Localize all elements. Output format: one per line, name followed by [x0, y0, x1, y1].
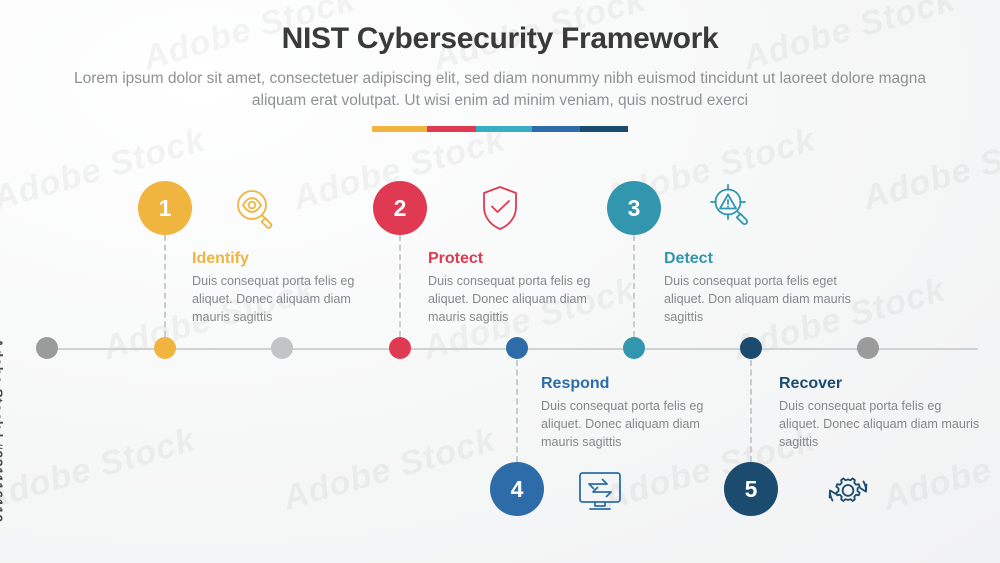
- node-text-block-recover: RecoverDuis consequat porta felis eg ali…: [779, 375, 984, 452]
- node-title-protect: Protect: [428, 250, 628, 268]
- step-number-circle-identify[interactable]: 1: [138, 181, 192, 235]
- gear-refresh-icon: [820, 463, 876, 519]
- header: NIST Cybersecurity Framework Lorem ipsum…: [0, 22, 1000, 132]
- watermark-tile: Adobe Stock: [279, 421, 500, 519]
- node-title-detect: Detect: [664, 250, 854, 268]
- node-title-respond: Respond: [541, 375, 741, 393]
- step-number-circle-protect[interactable]: 2: [373, 181, 427, 235]
- monitor-exchange-icon: [572, 463, 628, 519]
- timeline-dot-7: [740, 337, 762, 359]
- accent-segment-5: [580, 126, 628, 132]
- watermark-tile: Adobe Stock: [859, 121, 1000, 219]
- accent-segment-3: [476, 126, 532, 132]
- page-subtitle: Lorem ipsum dolor sit amet, consectetuer…: [60, 68, 940, 112]
- step-number-circle-recover[interactable]: 5: [724, 462, 778, 516]
- node-description-identify: Duis consequat porta felis eg aliquet. D…: [192, 273, 392, 327]
- timeline-dot-8: [857, 337, 879, 359]
- timeline-dot-5: [506, 337, 528, 359]
- connector-line-detect: [633, 235, 635, 337]
- connector-line-respond: [516, 360, 518, 462]
- watermark-tile: Adobe Stock: [0, 421, 200, 519]
- accent-segment-2: [427, 126, 475, 132]
- node-text-block-respond: RespondDuis consequat porta felis eg ali…: [541, 375, 741, 452]
- magnifier-eye-icon: [228, 183, 284, 239]
- connector-line-protect: [399, 235, 401, 337]
- node-title-identify: Identify: [192, 250, 392, 268]
- accent-segment-1: [372, 126, 428, 132]
- timeline-dot-3: [271, 337, 293, 359]
- timeline-dot-1: [36, 337, 58, 359]
- node-text-block-protect: ProtectDuis consequat porta felis eg ali…: [428, 250, 628, 327]
- node-description-protect: Duis consequat porta felis eg aliquet. D…: [428, 273, 628, 327]
- step-number-circle-detect[interactable]: 3: [607, 181, 661, 235]
- node-description-recover: Duis consequat porta felis eg aliquet. D…: [779, 398, 984, 452]
- node-text-block-identify: IdentifyDuis consequat porta felis eg al…: [192, 250, 392, 327]
- shield-check-icon: [472, 180, 528, 236]
- node-description-respond: Duis consequat porta felis eg aliquet. D…: [541, 398, 741, 452]
- connector-line-recover: [750, 360, 752, 462]
- page-title: NIST Cybersecurity Framework: [0, 22, 1000, 56]
- accent-bar: [372, 126, 629, 132]
- magnifier-alert-icon: [704, 180, 760, 236]
- step-number-circle-respond[interactable]: 4: [490, 462, 544, 516]
- timeline-dot-6: [623, 337, 645, 359]
- stock-watermark-label: Adobe Stock | #931116119: [0, 338, 6, 523]
- node-description-detect: Duis consequat porta felis eget aliquet.…: [664, 273, 854, 327]
- timeline-dot-4: [389, 337, 411, 359]
- connector-line-identify: [164, 235, 166, 337]
- accent-segment-4: [532, 126, 580, 132]
- node-text-block-detect: DetectDuis consequat porta felis eget al…: [664, 250, 854, 327]
- timeline-dot-2: [154, 337, 176, 359]
- node-title-recover: Recover: [779, 375, 984, 393]
